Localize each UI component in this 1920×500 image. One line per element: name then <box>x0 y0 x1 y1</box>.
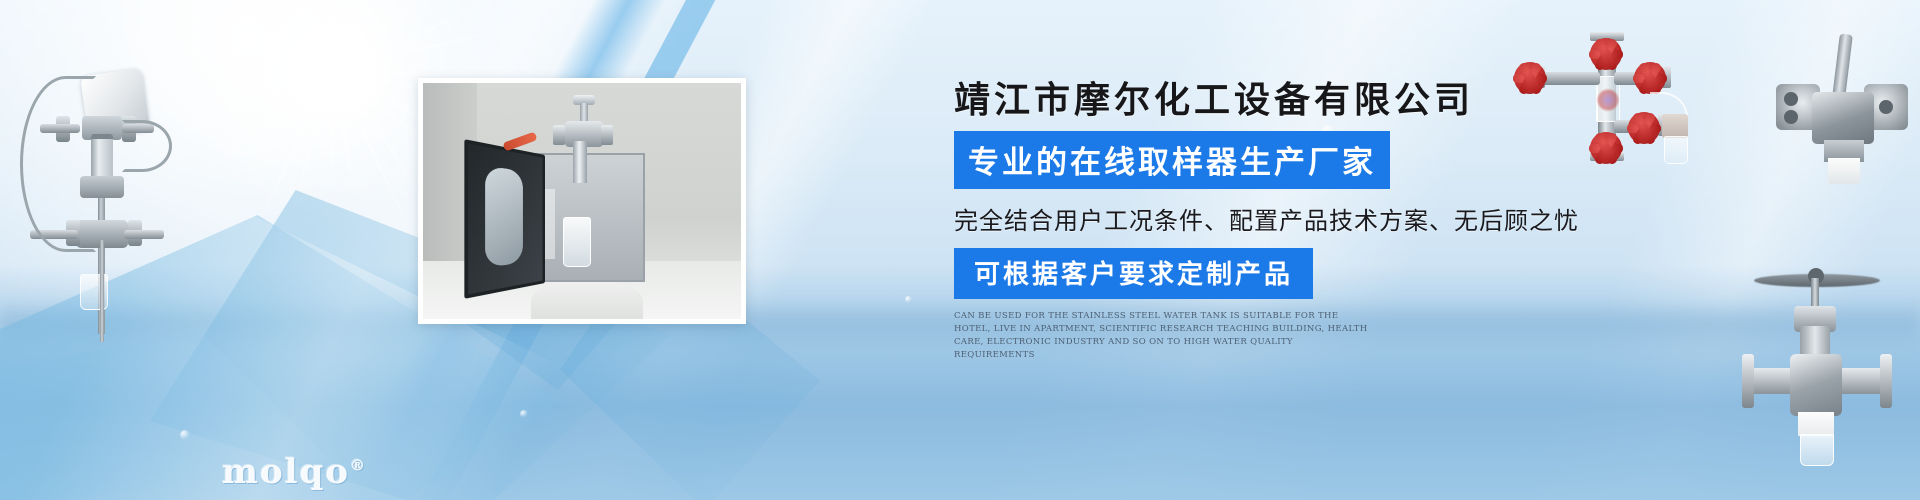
photo-cabinet <box>533 153 645 282</box>
machine-tubing <box>122 120 172 172</box>
valve-body <box>1790 354 1842 416</box>
photo-valve-stem <box>580 103 588 123</box>
photo-tubing <box>545 189 555 259</box>
banner-text-block: 靖江市摩尔化工设备有限公司 专业的在线取样器生产厂家 完全结合用户工况条件、配置… <box>954 78 1714 362</box>
photo-valve-flange <box>553 125 565 145</box>
photo-door-window <box>485 166 523 268</box>
center-product-photo <box>418 78 746 324</box>
company-title: 靖江市摩尔化工设备有限公司 <box>954 78 1714 122</box>
valve-lever <box>1832 33 1853 98</box>
english-description: CAN BE USED FOR THE STAINLESS STEEL WATE… <box>954 310 1372 362</box>
valve-arm-left <box>1748 368 1796 394</box>
photo-sample-bottle <box>563 217 591 267</box>
photo-content <box>423 83 741 319</box>
bubble-decoration <box>905 296 912 303</box>
lever-valve-illustration <box>1772 36 1912 184</box>
flange-bolt-hole <box>1784 110 1798 124</box>
watermark-logo: molqo® <box>222 452 367 492</box>
valve-flange-right <box>1880 354 1892 408</box>
valve-body <box>1812 92 1874 144</box>
left-machine-illustration <box>10 24 190 334</box>
photo-valve-flange <box>601 125 613 145</box>
machine-tubing <box>20 76 96 252</box>
valve-outlet-sleeve <box>1798 412 1834 436</box>
valve-outlet-sleeve <box>1828 158 1860 184</box>
registered-mark-icon: ® <box>350 457 367 475</box>
machine-arm <box>124 230 164 239</box>
bubble-decoration <box>520 410 528 418</box>
valve-flange-left <box>1742 354 1754 408</box>
sub-headline: 完全结合用户工况条件、配置产品技术方案、无后顾之忧 <box>954 201 1714 236</box>
handwheel-valve-illustration <box>1742 250 1892 460</box>
headline-badge: 专业的在线取样器生产厂家 <box>954 131 1390 189</box>
flange-bolt-hole <box>1879 100 1893 114</box>
watermark-text: molqo <box>222 452 350 492</box>
bubble-decoration <box>180 430 190 440</box>
valve-sample-jar <box>1800 434 1834 466</box>
photo-cabinet-door <box>464 139 545 299</box>
custom-product-badge: 可根据客户要求定制产品 <box>954 248 1313 299</box>
photo-red-handle <box>502 131 537 151</box>
flange-bolt-hole <box>1784 92 1798 106</box>
machine-stand-pole <box>100 240 104 342</box>
photo-pedestal <box>531 279 643 319</box>
valve-handwheel <box>1590 38 1622 70</box>
promo-banner: 靖江市摩尔化工设备有限公司 专业的在线取样器生产厂家 完全结合用户工况条件、配置… <box>0 0 1920 500</box>
valve-arm-right <box>1836 368 1884 394</box>
photo-column <box>573 141 587 183</box>
